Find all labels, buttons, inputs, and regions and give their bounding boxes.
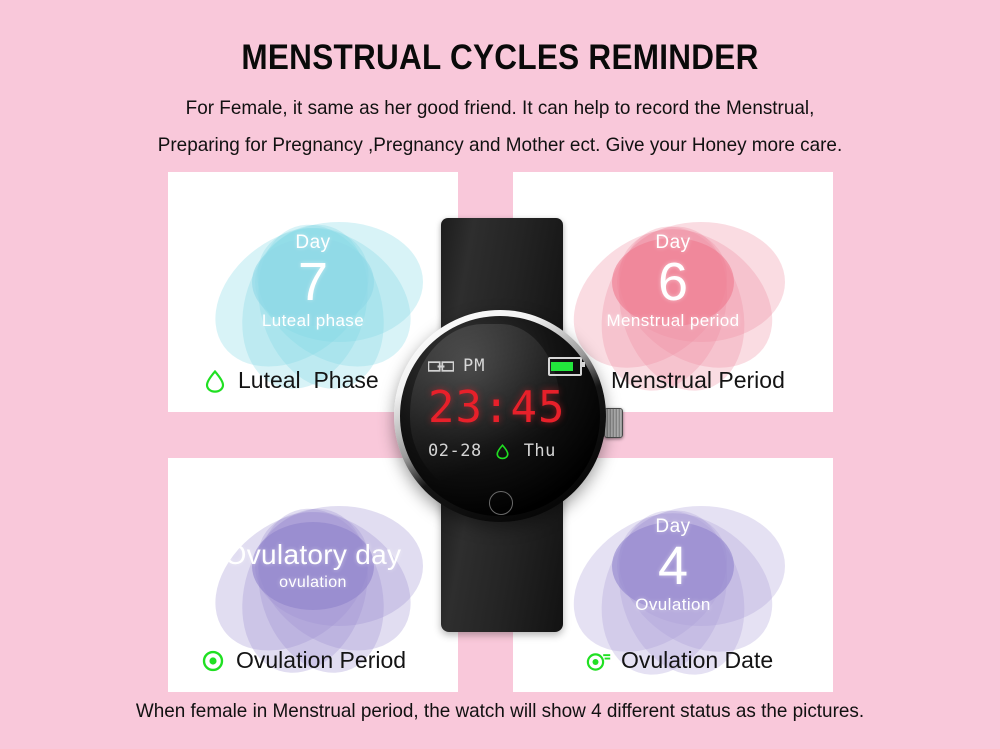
footer-note: When female in Menstrual period, the wat…: [15, 700, 985, 723]
watch-bezel: PM 23:45 02-28 Thu: [400, 316, 600, 516]
circle-dot-rays-icon: [585, 648, 611, 674]
blob-menstrual: Day 6 Menstrual period: [548, 187, 798, 377]
bluetooth-link-icon: [428, 360, 454, 373]
caption-label: Menstrual Period: [611, 367, 785, 394]
blob-ovulatory: Ovulatory day ovulation: [188, 471, 438, 661]
watch-date-row: 02-28 Thu: [428, 441, 584, 461]
watch-weekday: Thu: [524, 441, 556, 461]
droplet-outline-icon: [202, 368, 228, 394]
watch-screen[interactable]: PM 23:45 02-28 Thu: [428, 356, 584, 461]
caption-ovulation-period: Ovulation Period: [168, 647, 458, 674]
page-title: MENSTRUAL CYCLES REMINDER: [50, 0, 950, 78]
header: MENSTRUAL CYCLES REMINDER For Female, it…: [0, 0, 1000, 164]
watch-date: 02-28: [428, 441, 482, 461]
crown-button[interactable]: [604, 408, 623, 438]
watch-case: PM 23:45 02-28 Thu: [394, 310, 606, 522]
home-button[interactable]: [489, 491, 513, 515]
caption-ovulation-date: Ovulation Date: [513, 647, 833, 674]
caption-label: Ovulation Period: [236, 647, 406, 674]
subtitle-line-1: For Female, it same as her good friend. …: [15, 90, 985, 127]
watch-status-row: PM: [428, 356, 584, 376]
circle-dot-icon: [200, 648, 226, 674]
blob-ovulation: Day 4 Ovulation: [548, 471, 798, 661]
watch-time: 23:45: [428, 383, 584, 433]
blob-luteal: Day 7 Luteal phase: [188, 187, 438, 377]
caption-label: Luteal Phase: [238, 367, 379, 394]
battery-full-icon: [548, 357, 582, 376]
droplet-outline-icon: [494, 442, 511, 461]
header-subtitle: For Female, it same as her good friend. …: [15, 78, 985, 164]
caption-label: Ovulation Date: [621, 647, 773, 674]
panel-ovulation-period: Ovulatory day ovulation Ovulation Period: [168, 458, 458, 692]
subtitle-line-2: Preparing for Pregnancy ,Pregnancy and M…: [15, 127, 985, 164]
am-pm-indicator: PM: [463, 356, 485, 376]
